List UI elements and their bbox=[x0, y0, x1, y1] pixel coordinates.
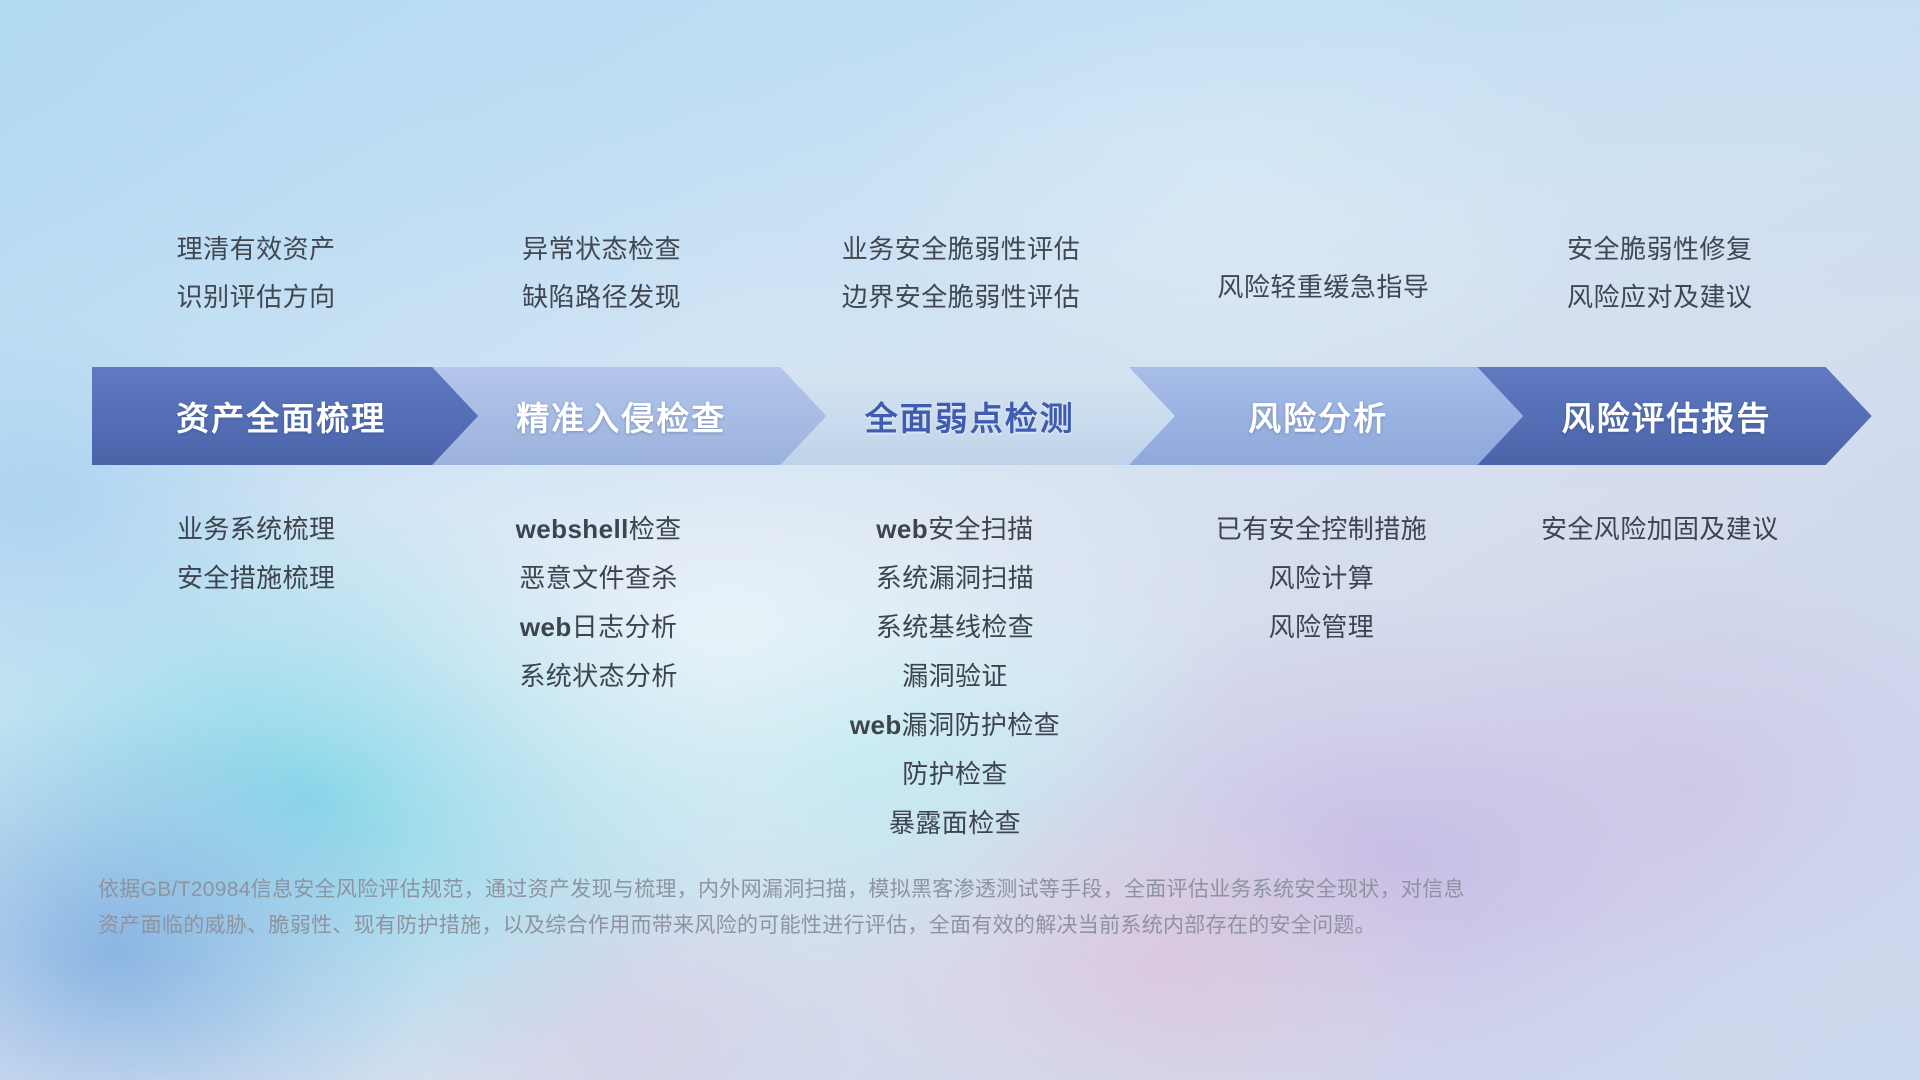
top-label-stack: 风险轻重缓急指导 bbox=[1217, 263, 1429, 311]
stage-chevron-3[interactable]: 全面弱点检测 bbox=[781, 367, 1175, 465]
list-item-label: 安全措施梳理 bbox=[177, 563, 335, 593]
list-item: web漏洞防护检查 bbox=[850, 701, 1060, 750]
top-label-line: 业务安全脆弱性评估 bbox=[842, 225, 1081, 273]
list-item: 防护检查 bbox=[850, 750, 1060, 799]
top-label-line: 异常状态检查 bbox=[522, 225, 681, 273]
list-item-label: 安全扫描 bbox=[928, 514, 1034, 544]
top-label-line: 缺陷路径发现 bbox=[522, 273, 681, 321]
top-label-line: 安全脆弱性修复 bbox=[1567, 225, 1753, 273]
detail-list-2: webshell检查恶意文件查杀web日志分析系统状态分析 bbox=[516, 505, 682, 701]
list-item-label: 风险计算 bbox=[1269, 563, 1375, 593]
top-label-stack: 异常状态检查缺陷路径发现 bbox=[522, 225, 681, 321]
list-item-keyword: webshell bbox=[516, 514, 629, 544]
stage-chevron-5[interactable]: 风险评估报告 bbox=[1477, 367, 1871, 465]
stage-label: 风险分析 bbox=[1248, 392, 1388, 440]
list-item-label: 已有安全控制措施 bbox=[1216, 514, 1427, 544]
list-item: 业务系统梳理 bbox=[177, 505, 335, 554]
list-item-label: 系统状态分析 bbox=[519, 661, 677, 691]
list-item-label: 防护检查 bbox=[902, 759, 1008, 789]
list-item: 暴露面检查 bbox=[850, 799, 1060, 848]
list-item: 漏洞验证 bbox=[850, 652, 1060, 701]
list-item-label: 恶意文件查杀 bbox=[519, 563, 677, 593]
list-item: 安全风险加固及建议 bbox=[1541, 505, 1779, 554]
list-item-keyword: web bbox=[850, 710, 902, 740]
top-label-stack: 理清有效资产识别评估方向 bbox=[177, 225, 336, 321]
footer-description: 依据GB/T20984信息安全风险评估规范，通过资产发现与梳理，内外网漏洞扫描，… bbox=[98, 872, 1658, 944]
top-label-line: 风险应对及建议 bbox=[1567, 273, 1753, 321]
detail-list-3: web安全扫描系统漏洞扫描系统基线检查漏洞验证web漏洞防护检查防护检查暴露面检… bbox=[850, 505, 1060, 848]
stage-label: 全面弱点检测 bbox=[865, 392, 1075, 440]
stage-chevron-2[interactable]: 精准入侵检查 bbox=[432, 367, 826, 465]
top-label-line: 理清有效资产 bbox=[177, 225, 336, 273]
stage-chevron-4[interactable]: 风险分析 bbox=[1129, 367, 1523, 465]
top-label-line: 识别评估方向 bbox=[177, 273, 336, 321]
list-item: web日志分析 bbox=[516, 603, 682, 652]
list-item: 安全措施梳理 bbox=[177, 554, 335, 603]
top-label-stack: 安全脆弱性修复风险应对及建议 bbox=[1567, 225, 1753, 321]
top-label-row: 理清有效资产识别评估方向异常状态检查缺陷路径发现业务安全脆弱性评估边界安全脆弱性… bbox=[0, 225, 1920, 360]
top-label-stack: 业务安全脆弱性评估边界安全脆弱性评估 bbox=[842, 225, 1081, 321]
detail-list-4: 已有安全控制措施风险计算风险管理 bbox=[1216, 505, 1427, 652]
list-item-label: 检查 bbox=[629, 514, 682, 544]
list-item-label: 漏洞验证 bbox=[902, 661, 1008, 691]
list-item-label: 漏洞防护检查 bbox=[902, 710, 1060, 740]
detail-list-1: 业务系统梳理安全措施梳理 bbox=[177, 505, 335, 603]
list-item-label: 日志分析 bbox=[572, 612, 678, 642]
top-label-line: 边界安全脆弱性评估 bbox=[842, 273, 1081, 321]
list-item-label: 系统基线检查 bbox=[876, 612, 1034, 642]
list-item: 恶意文件查杀 bbox=[516, 554, 682, 603]
top-label-line: 风险轻重缓急指导 bbox=[1217, 263, 1429, 311]
list-item: web安全扫描 bbox=[850, 505, 1060, 554]
stage-chevron-1[interactable]: 资产全面梳理 bbox=[92, 367, 486, 465]
list-item: webshell检查 bbox=[516, 505, 682, 554]
list-item-label: 暴露面检查 bbox=[889, 808, 1021, 838]
list-item: 系统漏洞扫描 bbox=[850, 554, 1060, 603]
list-item-keyword: web bbox=[520, 612, 572, 642]
list-item-label: 系统漏洞扫描 bbox=[876, 563, 1034, 593]
list-item: 系统基线检查 bbox=[850, 603, 1060, 652]
list-item-label: 风险管理 bbox=[1269, 612, 1375, 642]
list-item-label: 安全风险加固及建议 bbox=[1541, 514, 1779, 544]
list-item: 风险管理 bbox=[1216, 603, 1427, 652]
detail-list-5: 安全风险加固及建议 bbox=[1541, 505, 1779, 554]
stage-label: 资产全面梳理 bbox=[176, 392, 386, 440]
list-item-label: 业务系统梳理 bbox=[177, 514, 335, 544]
process-stage-banner: 资产全面梳理精准入侵检查全面弱点检测风险分析风险评估报告 bbox=[92, 367, 1834, 465]
footer-line: 资产面临的威胁、脆弱性、现有防护措施，以及综合作用而带来风险的可能性进行评估，全… bbox=[98, 908, 1658, 944]
list-item: 系统状态分析 bbox=[516, 652, 682, 701]
list-item-keyword: web bbox=[876, 514, 928, 544]
list-item: 风险计算 bbox=[1216, 554, 1427, 603]
stage-label: 精准入侵检查 bbox=[516, 392, 726, 440]
footer-line: 依据GB/T20984信息安全风险评估规范，通过资产发现与梳理，内外网漏洞扫描，… bbox=[98, 872, 1658, 908]
list-item: 已有安全控制措施 bbox=[1216, 505, 1427, 554]
infographic-root: 理清有效资产识别评估方向异常状态检查缺陷路径发现业务安全脆弱性评估边界安全脆弱性… bbox=[0, 0, 1920, 1080]
stage-label: 风险评估报告 bbox=[1562, 392, 1772, 440]
